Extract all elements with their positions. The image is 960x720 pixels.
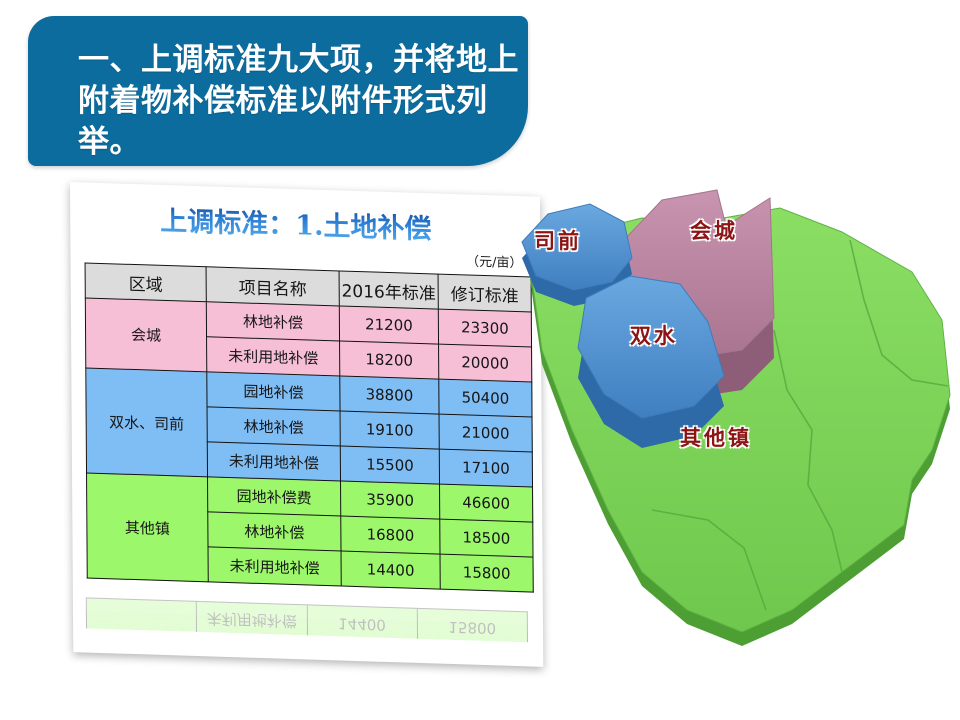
district-map: 司前 会城 双水 其他镇 <box>512 180 960 700</box>
region-cell: 其他镇 <box>87 473 209 582</box>
old-value-cell: 15500 <box>340 446 439 484</box>
item-cell: 未利用地补偿 <box>207 442 340 481</box>
item-cell: 林地补偿 <box>208 512 341 551</box>
old-value-cell: 14400 <box>341 551 440 589</box>
column-header-item: 项目名称 <box>206 267 339 306</box>
old-value-cell: 21200 <box>339 306 438 344</box>
old-value-cell: 19100 <box>340 411 439 449</box>
column-header-old: 2016年标准 <box>339 271 438 309</box>
slide-heading: 一、上调标准九大项，并将地上附着物补偿标准以附件形式列举。 <box>78 40 528 163</box>
item-cell: 林地补偿 <box>206 302 339 341</box>
column-header-region: 区域 <box>85 263 206 302</box>
item-cell: 园地补偿 <box>207 372 340 411</box>
item-cell: 未利用地补偿 <box>207 337 340 376</box>
item-cell: 园地补偿费 <box>208 477 341 516</box>
old-value-cell: 18200 <box>340 341 439 379</box>
compensation-table: 区域 项目名称 2016年标准 修订标准 会城 林地补偿 21200 23300… <box>85 262 534 592</box>
item-cell: 林地补偿 <box>207 407 340 446</box>
table-card-wrapper: 上调标准：1.土地补偿 （元/亩） 区域 项目名称 2016年标准 修订标准 会… <box>70 182 550 720</box>
old-value-cell: 35900 <box>341 481 440 519</box>
map-label-huicheng: 会城 <box>690 215 738 245</box>
old-value-cell: 16800 <box>341 516 440 554</box>
old-value-cell: 38800 <box>340 376 439 414</box>
map-label-shuangshui: 双水 <box>630 320 678 350</box>
table-title: 上调标准：1.土地补偿 <box>160 199 520 249</box>
map-label-qitazhen: 其他镇 <box>680 422 752 452</box>
map-label-siqian: 司前 <box>534 225 582 255</box>
title-banner: 一、上调标准九大项，并将地上附着物补偿标准以附件形式列举。 <box>28 16 528 166</box>
item-cell: 未利用地补偿 <box>208 547 341 586</box>
slide-canvas: 一、上调标准九大项，并将地上附着物补偿标准以附件形式列举。 上调标准：1.土地补… <box>0 0 960 720</box>
region-cell: 双水、司前 <box>86 368 208 477</box>
table-card: 上调标准：1.土地补偿 （元/亩） 区域 项目名称 2016年标准 修订标准 会… <box>70 182 543 667</box>
region-cell: 会城 <box>85 298 206 372</box>
